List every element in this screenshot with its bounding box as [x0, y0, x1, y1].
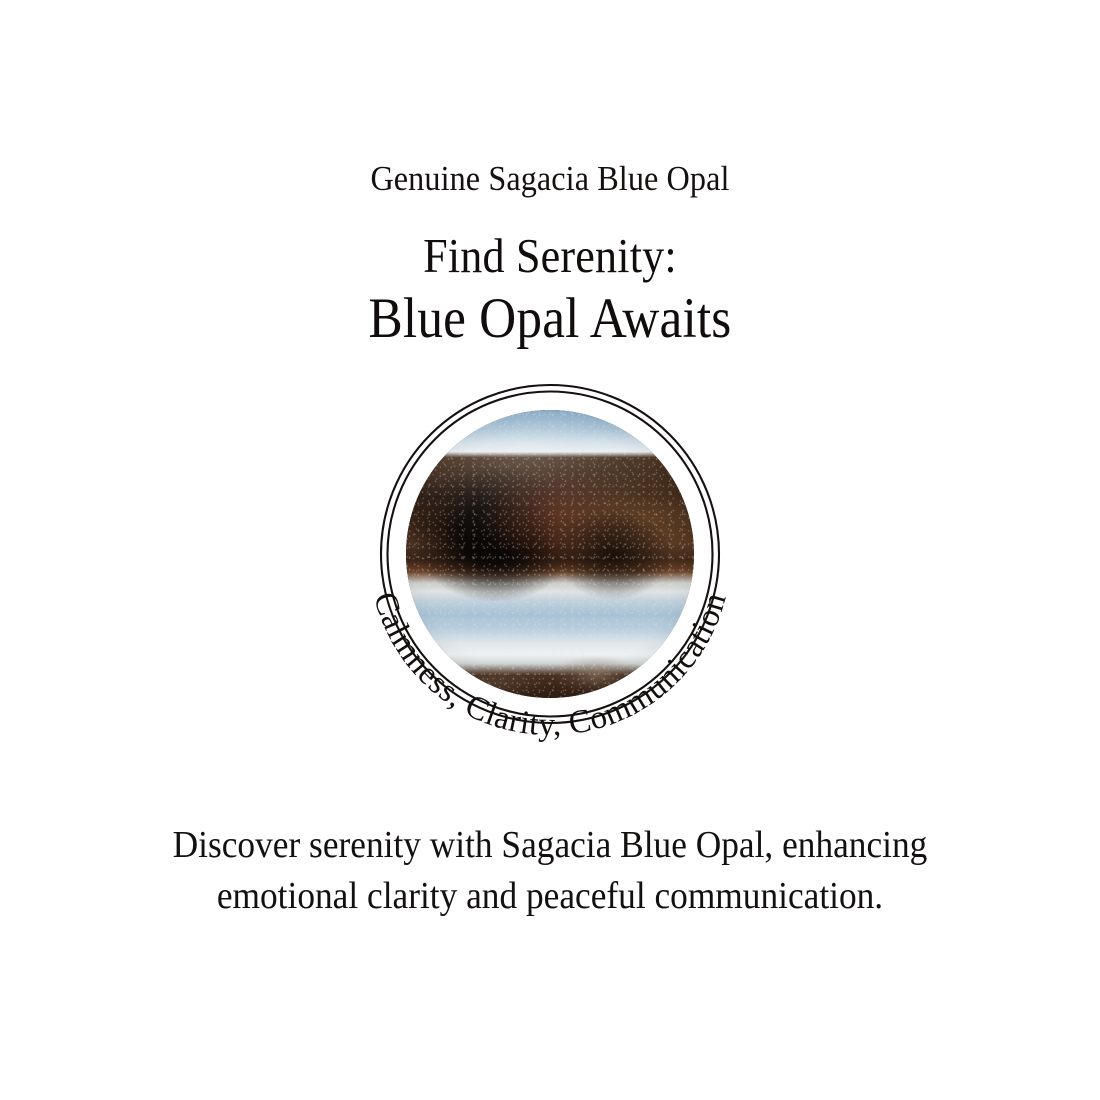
- body-line-1: Discover serenity with Sagacia Blue Opal…: [104, 820, 997, 871]
- arc-tagline-textpath: Calmness, Clarity, Communication: [366, 588, 734, 743]
- body-paragraph: Discover serenity with Sagacia Blue Opal…: [104, 820, 997, 922]
- headline-line-1: Find Serenity:: [55, 228, 1045, 285]
- headline-line-2: Blue Opal Awaits: [55, 285, 1045, 352]
- promo-card: Genuine Sagacia Blue Opal Find Serenity:…: [0, 0, 1100, 1100]
- page-title: Find Serenity: Blue Opal Awaits: [55, 228, 1045, 352]
- body-line-2: emotional clarity and peaceful communica…: [104, 871, 997, 922]
- arc-tagline: Calmness, Clarity, Communication: [366, 588, 734, 743]
- eyebrow-text: Genuine Sagacia Blue Opal: [44, 160, 1056, 199]
- emblem-inner: Calmness, Clarity, Communication: [360, 364, 740, 744]
- emblem-rings-and-arc: Calmness, Clarity, Communication: [360, 364, 740, 744]
